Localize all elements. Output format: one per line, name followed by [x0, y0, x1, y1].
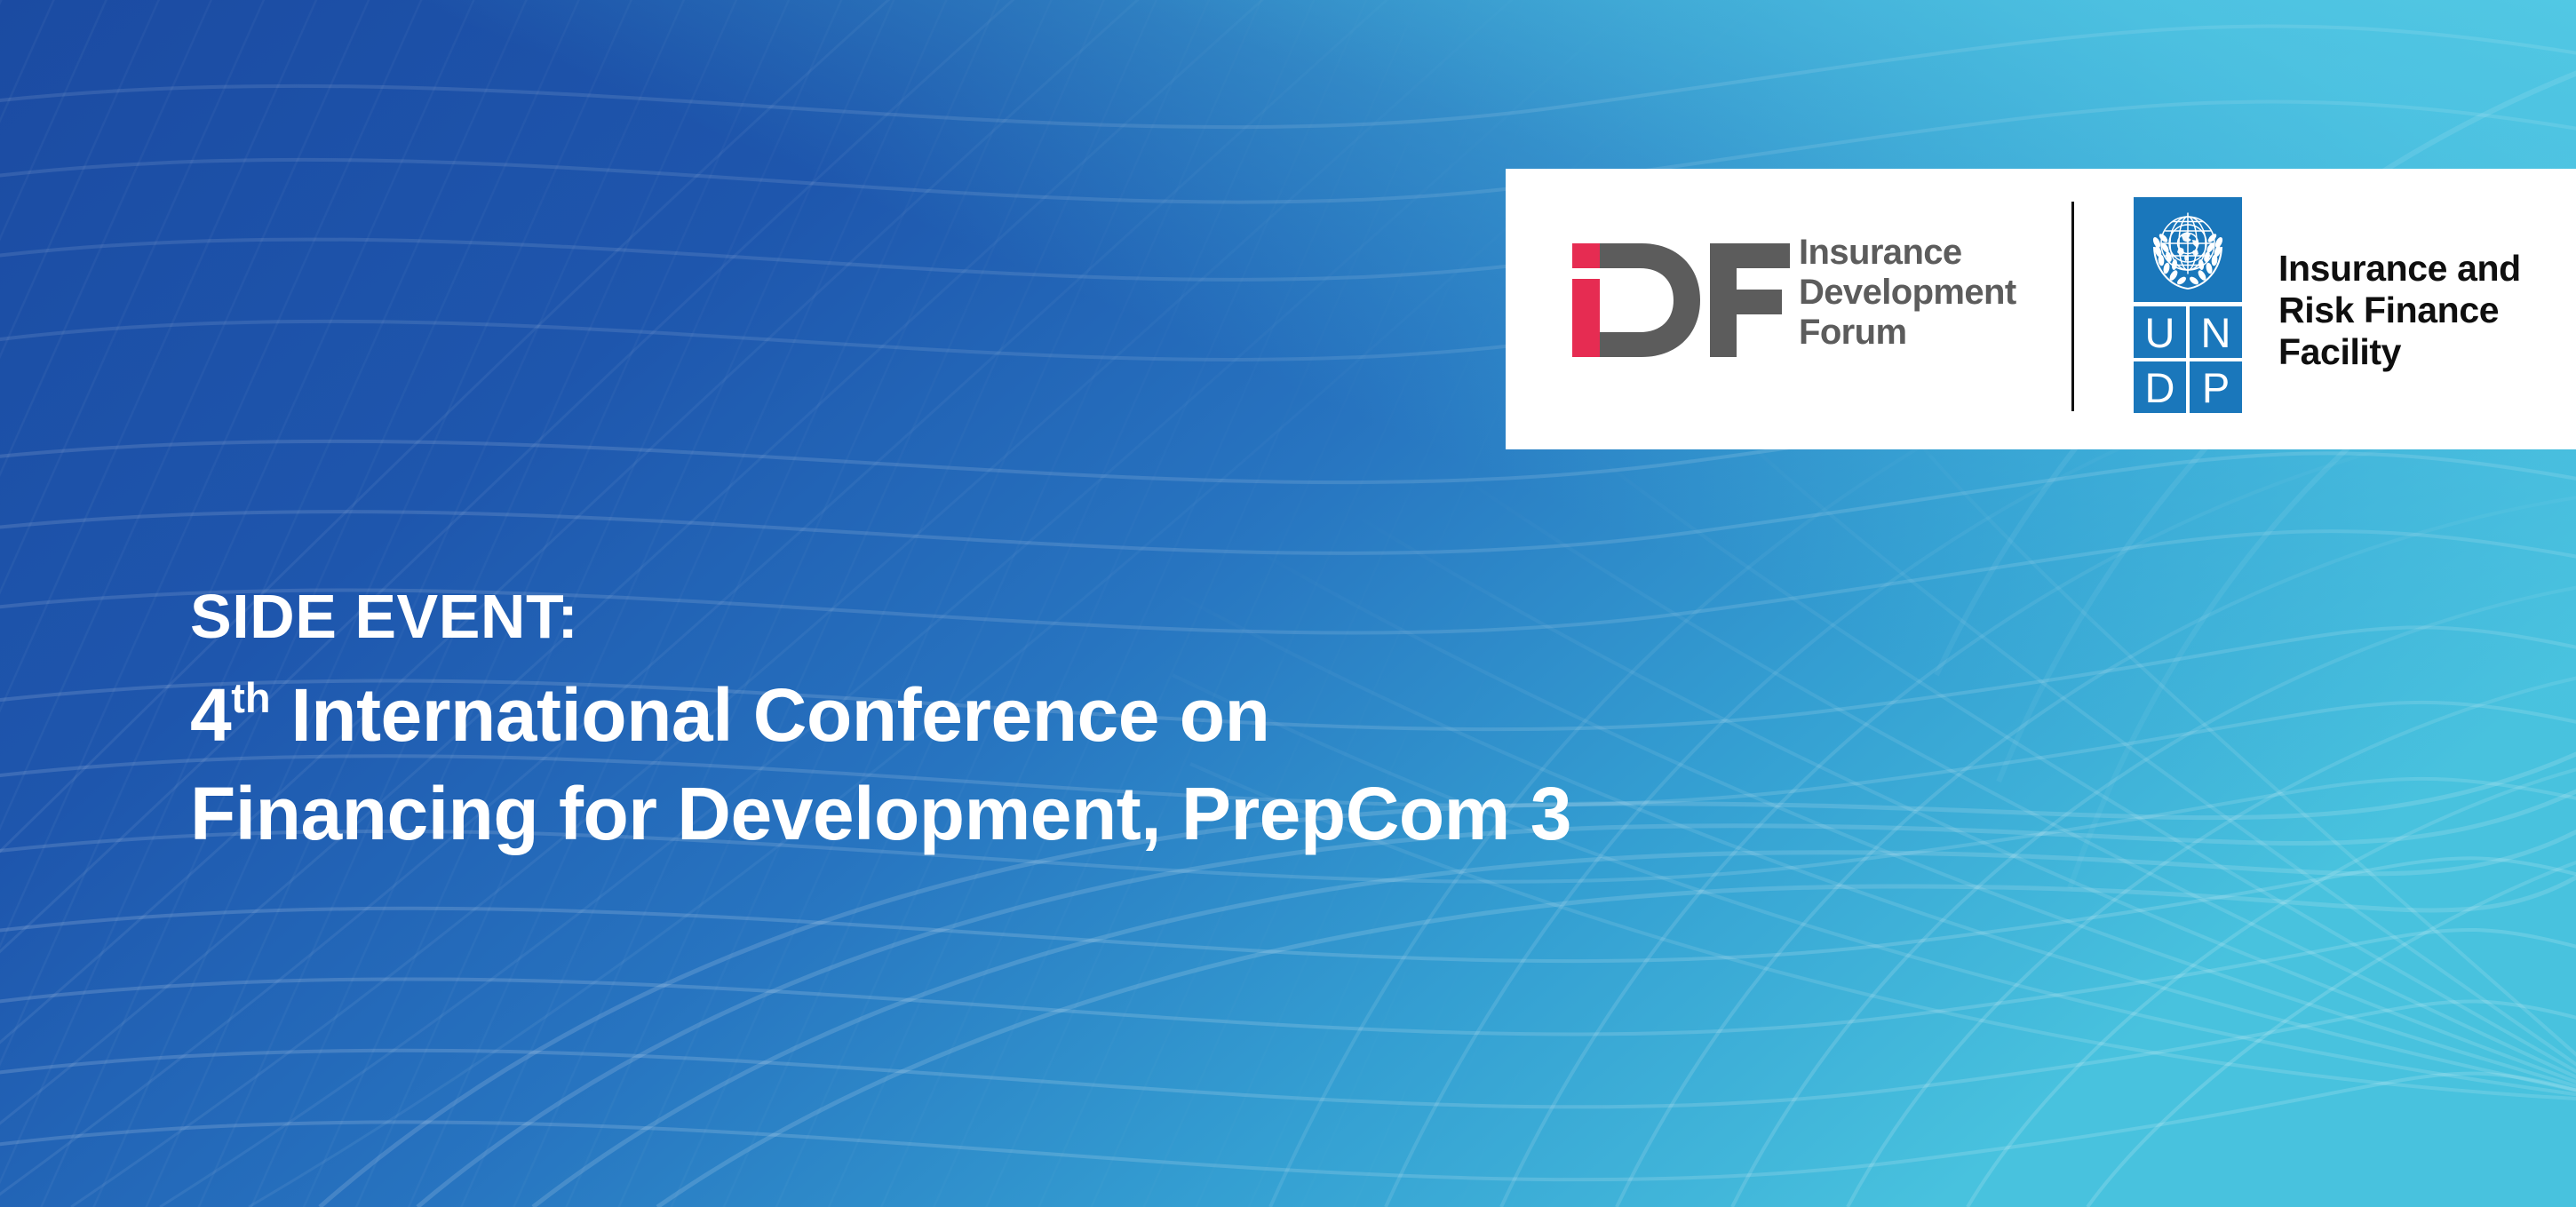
event-eyebrow: SIDE EVENT:: [190, 574, 1571, 659]
undp-cell-u: U: [2134, 306, 2186, 358]
event-title-line-2: Financing for Development, PrepCom 3: [190, 770, 1571, 857]
headline-block: SIDE EVENT: 4th International Conference…: [190, 574, 1571, 857]
event-title-line-1: 4th International Conference on: [190, 671, 1571, 770]
irff-wordmark-line-1: Insurance and: [2278, 248, 2521, 290]
undp-irff-logo: U N D P Insurance and Risk Finance Facil…: [2134, 197, 2542, 419]
undp-cell-p: P: [2190, 361, 2242, 413]
vertical-divider: [2071, 202, 2074, 411]
idf-wordmark-line-1: Insurance: [1799, 233, 2074, 273]
irff-wordmark: Insurance and Risk Finance Facility: [2278, 248, 2521, 373]
un-globe-olive-branches-emblem: [2134, 197, 2242, 302]
undp-emblem-stack: U N D P: [2134, 197, 2242, 416]
idf-wordmark: Insurance Development Forum: [1799, 233, 2074, 353]
ordinal-suffix: th: [231, 674, 270, 721]
event-title-line-1-rest: International Conference on: [271, 673, 1270, 757]
idf-logo: Insurance Development Forum: [1572, 233, 2070, 366]
idf-logo-icon: [1572, 243, 1790, 357]
irff-wordmark-line-3: Facility: [2278, 331, 2521, 373]
undp-cell-d: D: [2134, 361, 2186, 413]
ordinal-number: 4: [190, 673, 231, 757]
logo-panel: Insurance Development Forum: [1506, 169, 2576, 449]
idf-wordmark-line-3: Forum: [1799, 313, 2074, 353]
event-banner: Insurance Development Forum: [0, 0, 2576, 1207]
irff-wordmark-line-2: Risk Finance: [2278, 290, 2521, 331]
undp-cell-n: N: [2190, 306, 2242, 358]
idf-wordmark-line-2: Development: [1799, 273, 2074, 313]
undp-acronym-grid: U N D P: [2134, 306, 2242, 416]
